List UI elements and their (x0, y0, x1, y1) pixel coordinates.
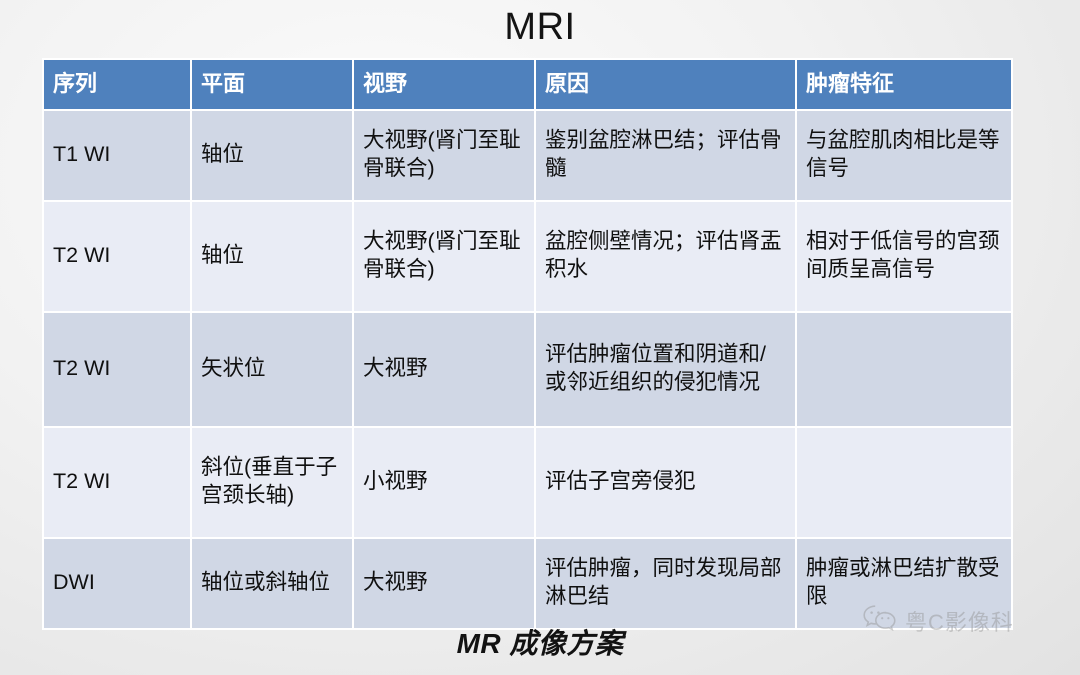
cell-fov: 大视野 (354, 539, 534, 628)
cell-tumor-features: 与盆腔肌肉相比是等信号 (797, 111, 1011, 200)
cell-reason: 评估肿瘤，同时发现局部淋巴结 (536, 539, 795, 628)
watermark: 粤C影像科 (862, 604, 1014, 637)
column-header-plane: 平面 (192, 60, 352, 109)
cell-reason: 评估子宫旁侵犯 (536, 428, 795, 537)
cell-sequence: T1 WI (44, 111, 190, 200)
cell-plane: 轴位或斜轴位 (192, 539, 352, 628)
column-header-sequence: 序列 (44, 60, 190, 109)
cell-reason: 鉴别盆腔淋巴结；评估骨髓 (536, 111, 795, 200)
cell-tumor-features: 相对于低信号的宫颈间质呈高信号 (797, 202, 1011, 311)
watermark-text: 粤C影像科 (905, 605, 1014, 637)
cell-fov: 小视野 (354, 428, 534, 537)
cell-sequence: DWI (44, 539, 190, 628)
cell-fov: 大视野 (354, 313, 534, 426)
table-row: T1 WI 轴位 大视野(肾门至耻骨联合) 鉴别盆腔淋巴结；评估骨髓 与盆腔肌肉… (44, 111, 1011, 200)
mri-protocol-table-container: 序列 平面 视野 原因 肿瘤特征 T1 WI 轴位 大视野(肾门至耻骨联合) 鉴… (42, 58, 1013, 630)
cell-plane: 斜位(垂直于子宫颈长轴) (192, 428, 352, 537)
column-header-fov: 视野 (354, 60, 534, 109)
cell-fov: 大视野(肾门至耻骨联合) (354, 202, 534, 311)
slide-canvas: MRI 序列 平面 视野 原因 肿瘤特征 T1 WI 轴位 大视野(肾门至耻骨联 (0, 0, 1080, 675)
cell-reason: 盆腔侧壁情况；评估肾盂积水 (536, 202, 795, 311)
table-row: T2 WI 矢状位 大视野 评估肿瘤位置和阴道和/或邻近组织的侵犯情况 (44, 313, 1011, 426)
column-header-tumor-features: 肿瘤特征 (797, 60, 1011, 109)
cell-sequence: T2 WI (44, 428, 190, 537)
column-header-reason: 原因 (536, 60, 795, 109)
cell-tumor-features (797, 313, 1011, 426)
cell-plane: 轴位 (192, 202, 352, 311)
table-row: T2 WI 斜位(垂直于子宫颈长轴) 小视野 评估子宫旁侵犯 (44, 428, 1011, 537)
cell-plane: 矢状位 (192, 313, 352, 426)
wechat-icon (862, 604, 898, 637)
cell-sequence: T2 WI (44, 313, 190, 426)
cell-sequence: T2 WI (44, 202, 190, 311)
cell-plane: 轴位 (192, 111, 352, 200)
table-row: T2 WI 轴位 大视野(肾门至耻骨联合) 盆腔侧壁情况；评估肾盂积水 相对于低… (44, 202, 1011, 311)
table-header-row: 序列 平面 视野 原因 肿瘤特征 (44, 60, 1011, 109)
cell-fov: 大视野(肾门至耻骨联合) (354, 111, 534, 200)
page-title: MRI (0, 2, 1080, 52)
cell-tumor-features (797, 428, 1011, 537)
cell-reason: 评估肿瘤位置和阴道和/或邻近组织的侵犯情况 (536, 313, 795, 426)
mri-protocol-table: 序列 平面 视野 原因 肿瘤特征 T1 WI 轴位 大视野(肾门至耻骨联合) 鉴… (42, 58, 1013, 630)
